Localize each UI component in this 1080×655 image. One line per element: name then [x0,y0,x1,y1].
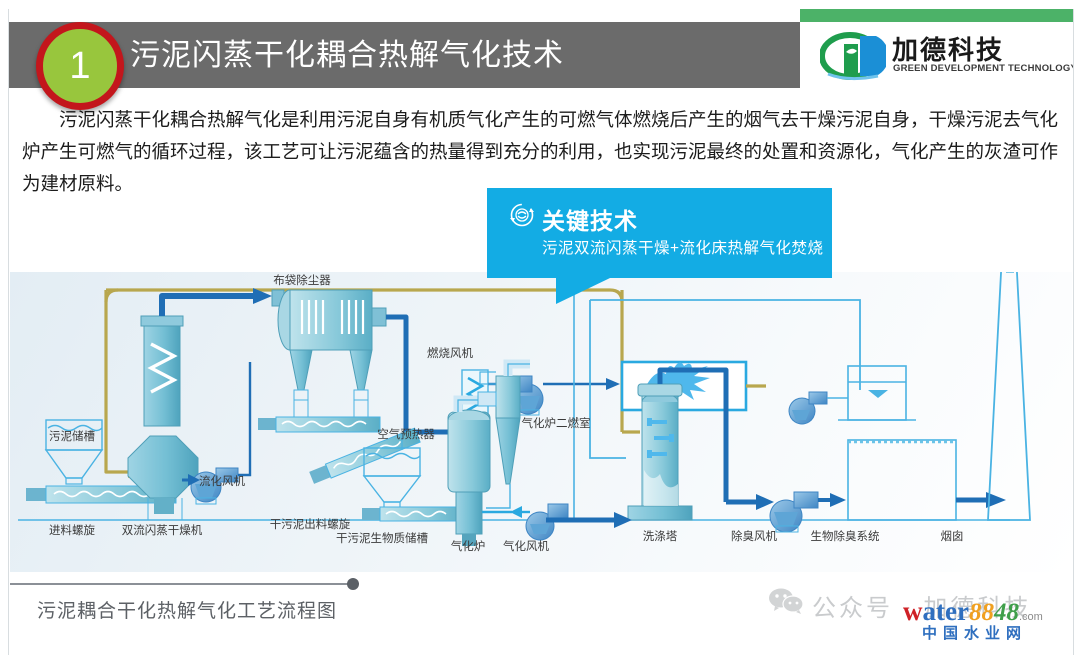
intro-paragraph: 污泥闪蒸干化耦合热解气化是利用污泥自身有机质气化产生的可燃气体燃烧后产生的烟气去… [10,104,1070,200]
caption-rule [10,583,355,585]
frame-right-edge [1073,0,1080,655]
silo-outlet-screw-shape [362,507,466,521]
bio-deodorization-system-shape [848,440,956,520]
deodorizing-fan-shape [770,492,846,532]
label-gasifier-secondary-chamber: 气化炉二燃室 [522,416,591,430]
label-dual-flow-flash-dryer: 双流闪蒸干燥机 [122,523,203,537]
callout-subtitle: 污泥双流闪蒸干燥+流化床热解气化焚烧 [542,236,824,258]
brand-part-1: w [903,596,923,626]
intro-paragraph-text: 污泥闪蒸干化耦合热解气化是利用污泥自身有机质气化产生的可燃气体燃烧后产生的烟气去… [10,104,1070,200]
label-sludge-storage-tank: 污泥储槽 [49,429,95,443]
caption-dot [347,578,359,590]
section-number-label: 1 [43,29,117,103]
frame-left-edge [0,0,9,655]
logo-name-cn: 加德科技 [892,30,1004,67]
frame-top-edge [0,0,1080,9]
label-combustion-fan: 燃烧风机 [427,346,473,360]
label-fluidizing-fan: 流化风机 [199,474,245,488]
label-dry-sludge-biomass-silo: 干污泥生物质储槽 [336,531,428,545]
label-feed-screw: 进料螺旋 [49,523,95,537]
callout-tail [556,278,610,304]
label-dry-sludge-discharge-screw: 干污泥出料螺旋 [270,517,351,531]
chimney-shape [988,272,1030,520]
process-flow-diagram: 污泥储槽 进料螺旋 双流闪蒸干燥机 流化风机 布袋除尘器 干污泥出料螺旋 干污泥… [10,272,1072,572]
key-technology-callout: 关键技术 污泥双流闪蒸干燥+流化床热解气化焚烧 [487,188,832,278]
label-deodorizing-fan: 除臭风机 [731,529,777,543]
label-gasifier: 气化炉 [451,539,486,553]
ash-screw-shape [258,417,380,432]
logo-mark-icon [820,30,886,84]
callout-heading: 关键技术 [542,202,638,236]
label-scrubber-tower: 洗涤塔 [643,529,678,543]
label-chimney: 烟囱 [941,529,964,543]
label-bag-filter: 布袋除尘器 [273,273,331,287]
wechat-icon [768,588,804,614]
section-number-badge: 1 [36,22,124,110]
process-flow-svg: 污泥储槽 进料螺旋 双流闪蒸干燥机 流化风机 布袋除尘器 干污泥出料螺旋 干污泥… [10,272,1072,572]
sludge-storage-tank-shape [46,420,102,484]
logo-name-en: GREEN DEVELOPMENT TECHNOLOGY [893,63,1077,74]
label-bio-deodorization-system: 生物除臭系统 [811,529,880,543]
water-tank-shape [838,366,916,420]
combustion-fan-shape [510,376,620,415]
slide-root: 污泥闪蒸干化耦合热解气化技术 1 加德科技 GREEN DEVELOPMENT … [0,0,1080,655]
gasifier-shape [448,400,490,546]
site-brand-cn: 中国水业网 [922,622,1027,643]
label-gasification-fan: 气化风机 [503,539,549,553]
label-air-preheater: 空气预热器 [377,427,435,441]
diagram-caption: 污泥耦合干化热解气化工艺流程图 [37,596,337,623]
bag-filter-shape [272,290,386,418]
page-title: 污泥闪蒸干化耦合热解气化技术 [130,30,780,82]
company-logo: 加德科技 GREEN DEVELOPMENT TECHNOLOGY [820,28,1070,90]
recycle-icon [509,202,535,228]
